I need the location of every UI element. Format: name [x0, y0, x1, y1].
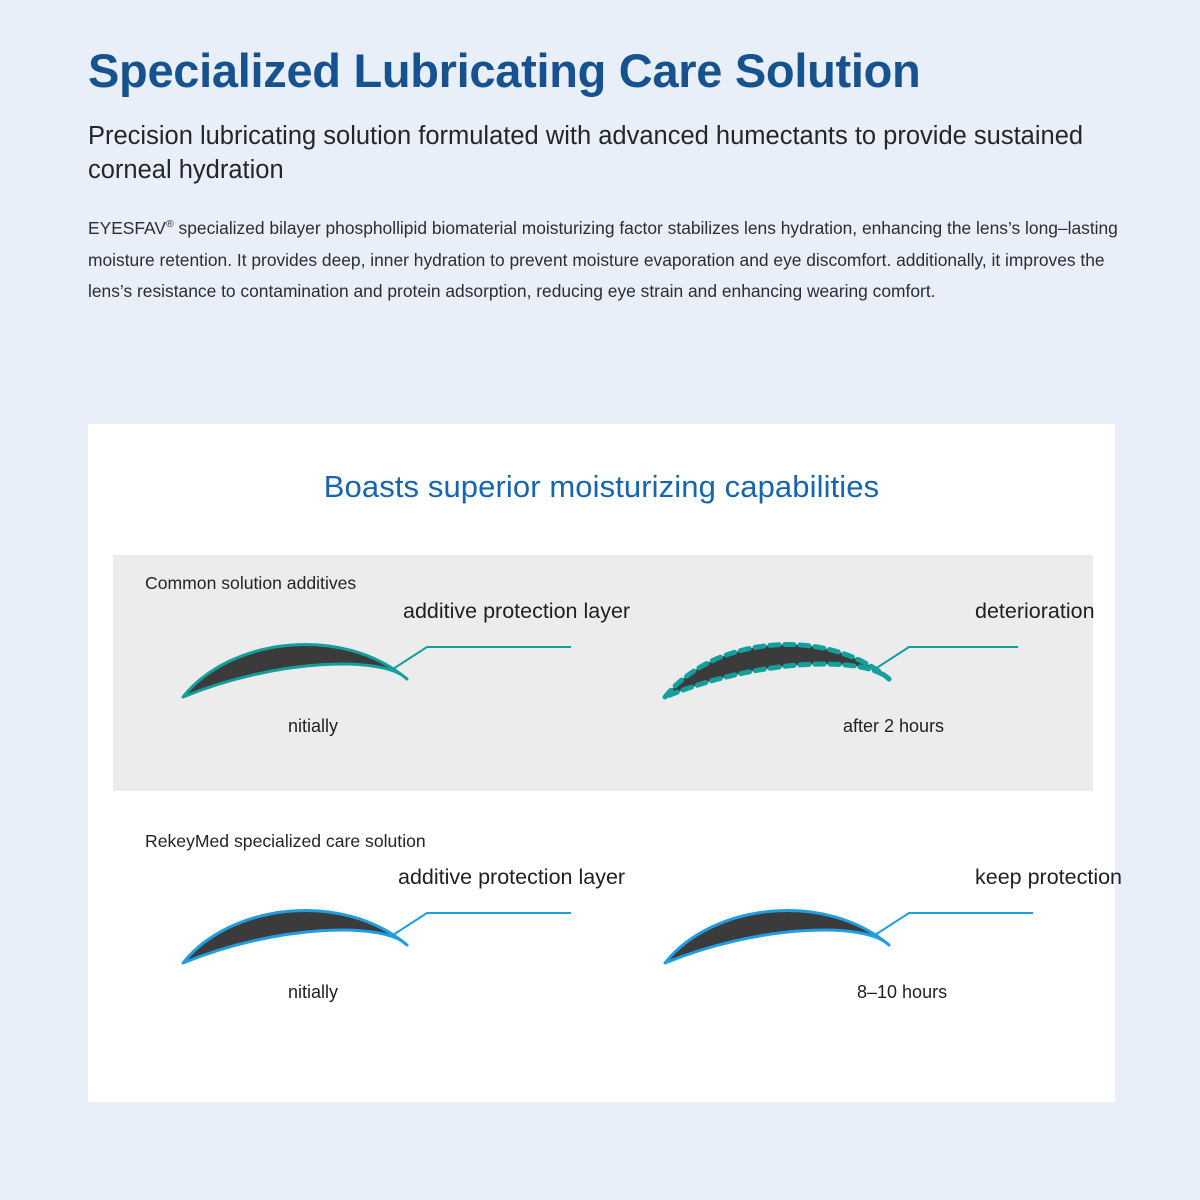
page-body-paragraph: EYESFAV® specialized bilayer phosphollip… — [88, 213, 1128, 308]
body-copy: specialized bilayer phosphollipid biomat… — [88, 218, 1118, 301]
lens-crescent-shape — [183, 645, 407, 697]
callout-label-protection-layer: additive protection layer — [398, 865, 625, 890]
caption-after-2-hours: after 2 hours — [843, 716, 944, 737]
card-title: Boasts superior moisturizing capabilitie… — [88, 424, 1115, 505]
caption-8-10-hours: 8–10 hours — [857, 982, 947, 1003]
brand-name: EYESFAV — [88, 218, 166, 238]
caption-initial: nitially — [288, 982, 338, 1003]
lens-crescent-shape — [183, 911, 407, 963]
callout-label-deterioration: deterioration — [975, 599, 1095, 624]
page-title: Specialized Lubricating Care Solution — [88, 44, 1148, 99]
diagram-pane-rekeymed-after: keep protection 8–10 hours — [603, 869, 1093, 1029]
page-header: Specialized Lubricating Care Solution Pr… — [88, 44, 1148, 308]
registered-mark: ® — [166, 218, 174, 230]
comparison-row-rekeymed: RekeyMed specialized care solution addit… — [113, 817, 1093, 1077]
lens-crescent-shape — [665, 911, 889, 963]
callout-label-keep-protection: keep protection — [975, 865, 1122, 890]
diagram-pane-common-initial: additive protection layer nitially — [113, 603, 603, 763]
row-label-rekeymed: RekeyMed specialized care solution — [145, 831, 426, 852]
comparison-card: Boasts superior moisturizing capabilitie… — [88, 424, 1115, 1102]
comparison-row-common: Common solution additives additive prote… — [113, 555, 1093, 791]
lens-crescent-shape-dashed — [665, 645, 889, 697]
leader-line — [393, 913, 571, 935]
leader-line — [875, 647, 1018, 669]
pane-group-common: additive protection layer nitially deter… — [113, 603, 1093, 763]
diagram-pane-common-after: deterioration after 2 hours — [603, 603, 1093, 763]
row-label-common: Common solution additives — [145, 573, 356, 594]
diagram-pane-rekeymed-initial: additive protection layer nitially — [113, 869, 603, 1029]
leader-line — [393, 647, 571, 669]
caption-initial: nitially — [288, 716, 338, 737]
callout-label-protection-layer: additive protection layer — [403, 599, 630, 624]
pane-group-rekeymed: additive protection layer nitially keep … — [113, 869, 1093, 1029]
leader-line — [875, 913, 1033, 935]
page-subtitle: Precision lubricating solution formulate… — [88, 119, 1148, 187]
